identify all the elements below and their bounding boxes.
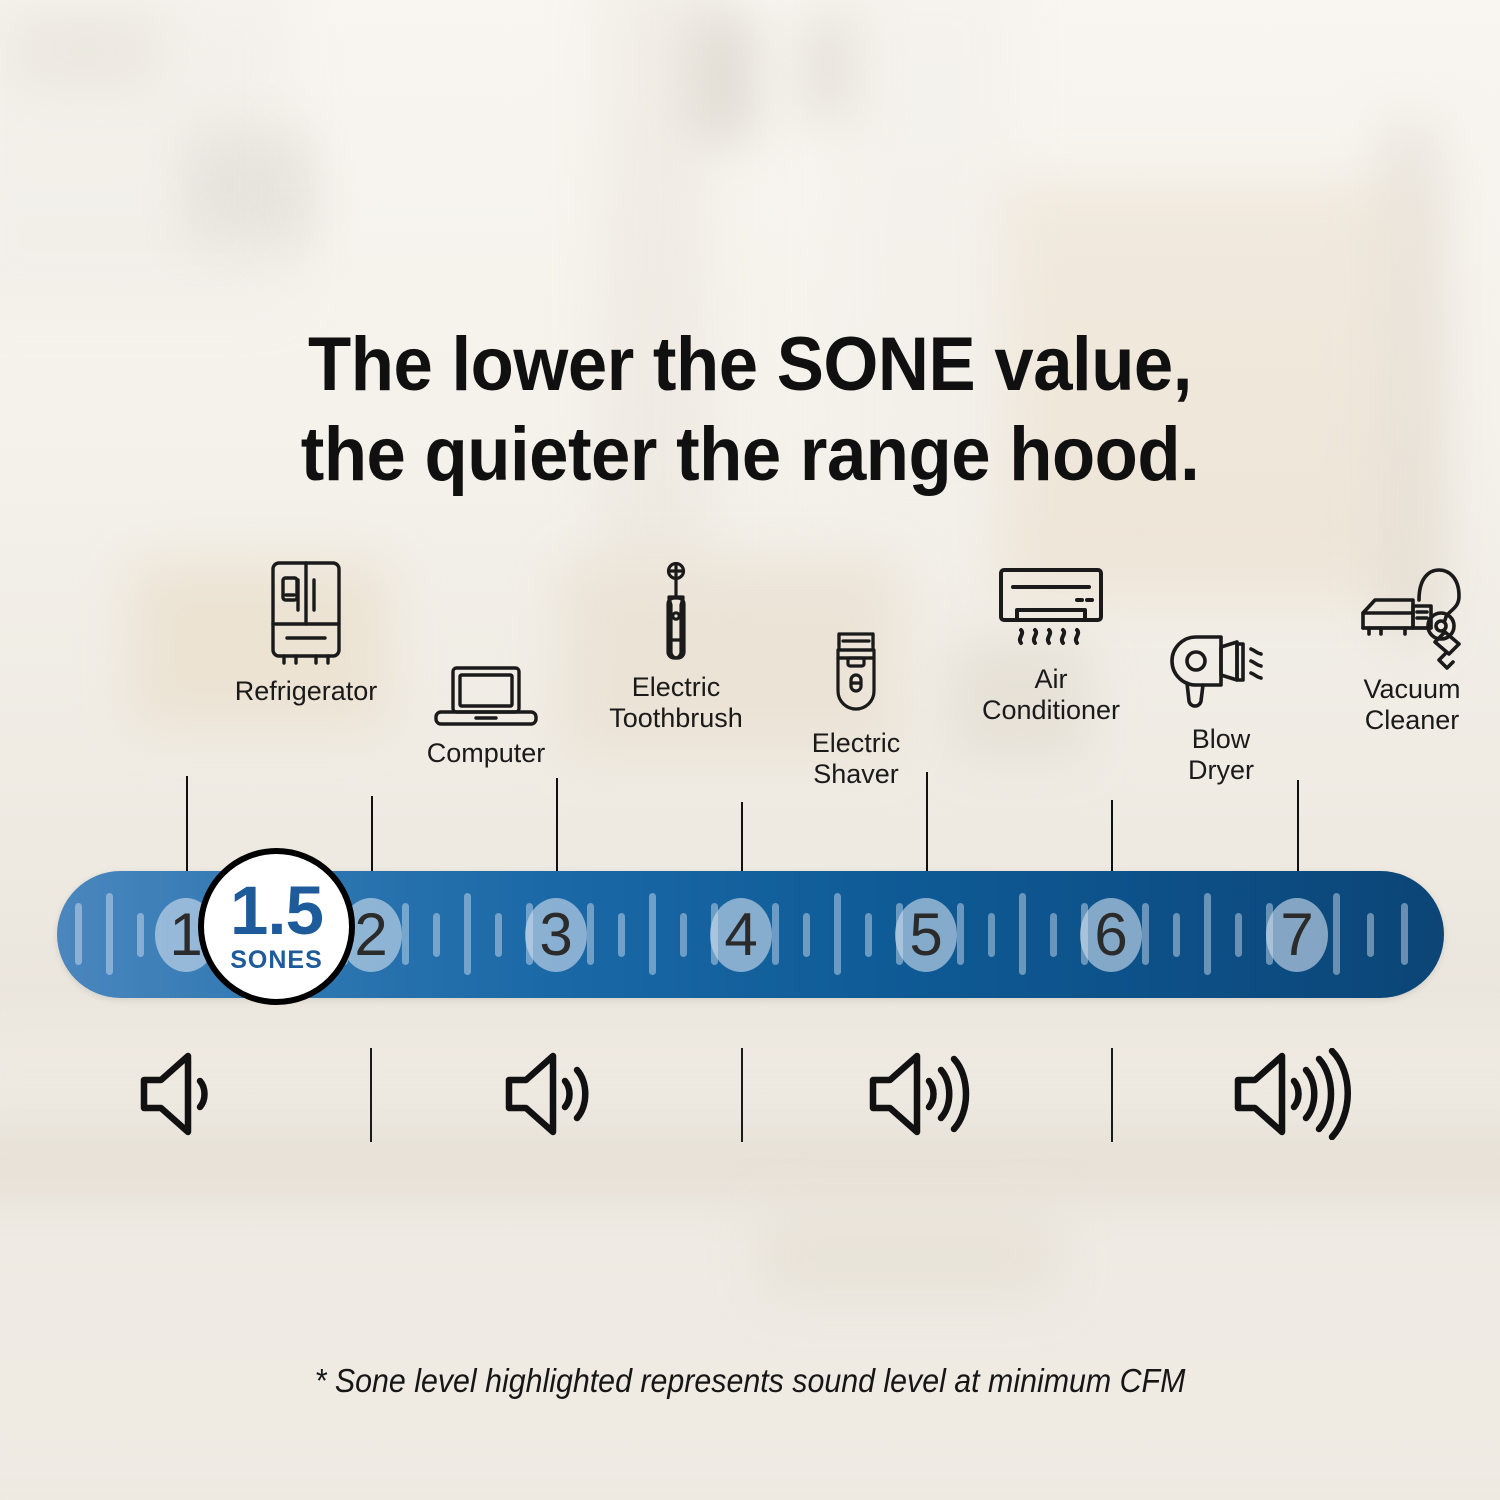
label-text-2: Toothbrush — [609, 703, 743, 733]
electric-toothbrush-icon — [648, 562, 704, 672]
scale-tick — [1235, 913, 1242, 957]
footnote: * Sone level highlighted represents soun… — [60, 1362, 1440, 1400]
appliance-label-electric-shaver: Electric Shaver — [812, 728, 901, 790]
appliance-label-computer: Computer — [427, 738, 546, 769]
sones-unit: SONES — [230, 946, 323, 975]
scale-number-7[interactable]: 7 — [1266, 898, 1328, 972]
scale-tick — [402, 903, 409, 965]
speaker-4-waves-icon — [1230, 1048, 1364, 1145]
scale-tick — [106, 893, 113, 975]
scale-tick — [680, 913, 687, 957]
speaker-divider-1 — [370, 1048, 372, 1142]
blow-dryer-icon — [1165, 628, 1277, 715]
label-text-2: Dryer — [1188, 755, 1254, 785]
appliance-label-blow-dryer: Blow Dryer — [1188, 724, 1254, 786]
appliance-label-electric-toothbrush: Electric Toothbrush — [609, 672, 743, 734]
speaker-divider-3 — [1111, 1048, 1113, 1142]
scale-tick — [618, 913, 625, 957]
scale-tick — [649, 893, 656, 975]
refrigerator-icon — [260, 558, 352, 675]
headline-line-1: The lower the SONE value, — [308, 322, 1192, 407]
label-text: Refrigerator — [235, 676, 378, 706]
scale-tick — [587, 903, 594, 965]
appliance-label-vacuum-cleaner: Vacuum Cleaner — [1363, 674, 1460, 736]
scale-tick — [1333, 893, 1340, 975]
scale-tick — [1401, 903, 1408, 965]
page-title: The lower the SONE value, the quieter th… — [53, 320, 1448, 499]
scale-tick — [464, 893, 471, 975]
scale-tick — [1142, 903, 1149, 965]
label-text-2: Shaver — [813, 759, 899, 789]
scale-tick — [137, 913, 144, 957]
scale-tick — [1050, 913, 1057, 957]
vacuum-cleaner-icon — [1353, 558, 1471, 675]
scale-number-text: 6 — [1094, 905, 1127, 965]
scale-tick — [1367, 913, 1374, 957]
headline-line-2: the quieter the range hood. — [53, 410, 1448, 500]
scale-number-text: 3 — [539, 905, 572, 965]
label-text-2: Conditioner — [982, 695, 1120, 725]
scale-number-text: 2 — [354, 905, 387, 965]
label-text-1: Electric — [632, 672, 721, 702]
scale-tick — [957, 903, 964, 965]
label-text-1: Electric — [812, 728, 901, 758]
scale-tick — [1019, 893, 1026, 975]
sones-value: 1.5 — [230, 878, 323, 944]
appliance-label-air-conditioner: Air Conditioner — [982, 664, 1120, 726]
scale-tick — [803, 913, 810, 957]
scale-tick — [865, 913, 872, 957]
speaker-1-wave-icon — [136, 1048, 236, 1145]
label-text-1: Air — [1035, 664, 1068, 694]
appliance-vacuum-cleaner: Vacuum Cleaner — [1297, 558, 1500, 748]
label-text: Computer — [427, 738, 546, 768]
scale-tick — [834, 893, 841, 975]
scale-number-3[interactable]: 3 — [525, 898, 587, 972]
scale-number-4[interactable]: 4 — [710, 898, 772, 972]
scale-tick — [772, 903, 779, 965]
scale-number-text: 7 — [1280, 905, 1313, 965]
scale-number-text: 5 — [909, 905, 942, 965]
scale-tick — [433, 913, 440, 957]
scale-number-6[interactable]: 6 — [1080, 898, 1142, 972]
scale-tick — [1204, 893, 1211, 975]
computer-icon — [432, 660, 540, 737]
label-text-1: Vacuum — [1363, 674, 1460, 704]
speaker-3-waves-icon — [865, 1048, 987, 1145]
scale-tick — [988, 913, 995, 957]
scale-number-text: 4 — [724, 905, 757, 965]
electric-shaver-icon — [825, 628, 887, 728]
appliance-label-refrigerator: Refrigerator — [235, 676, 378, 707]
sones-highlight-badge[interactable]: 1.5 SONES — [198, 848, 355, 1005]
speaker-2-waves-icon — [501, 1048, 611, 1145]
scale-tick — [75, 903, 82, 965]
speaker-divider-2 — [741, 1048, 743, 1142]
scale-tick — [495, 913, 502, 957]
scale-tick — [1173, 913, 1180, 957]
air-conditioner-icon — [989, 562, 1113, 663]
label-text-2: Cleaner — [1365, 705, 1460, 735]
label-text-1: Blow — [1192, 724, 1251, 754]
scale-number-5[interactable]: 5 — [895, 898, 957, 972]
